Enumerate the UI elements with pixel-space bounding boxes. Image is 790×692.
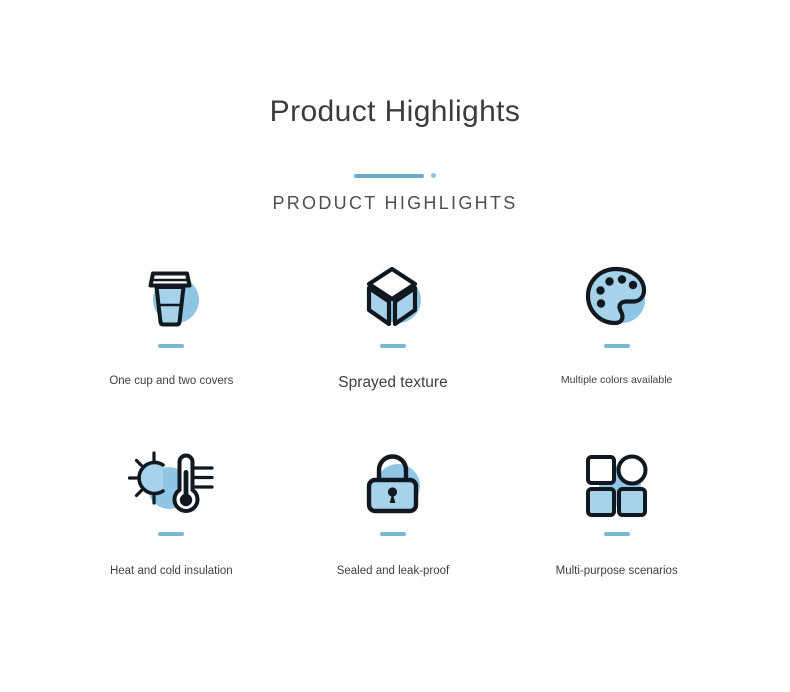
feature-label: Sealed and leak-proof (337, 563, 450, 579)
feature-rule (604, 532, 630, 536)
feature-item-heat-and-cold-insulation[interactable]: Heat and cold insulation (58, 446, 285, 624)
feature-rule (380, 532, 406, 536)
page-header: Product Highlights (0, 92, 790, 132)
feature-label: Multiple colors available (561, 372, 672, 388)
feature-label: Sprayed texture (338, 375, 447, 391)
feature-item-sprayed-texture[interactable]: Sprayed texture (280, 258, 507, 436)
feature-rule (158, 532, 184, 536)
page-title: Product Highlights (0, 92, 790, 132)
feature-label: Heat and cold insulation (110, 563, 233, 579)
paint-palette-icon (580, 258, 654, 336)
thermometer-sun-icon (123, 446, 219, 524)
feature-rule (158, 344, 184, 348)
divider (0, 173, 790, 178)
product-highlights-page: Product Highlights PRODUCT HIGHLIGHTS (0, 0, 790, 692)
grid-shapes-icon (580, 446, 654, 524)
divider-dot-icon (431, 173, 436, 178)
cube-box-icon (356, 258, 430, 336)
feature-item-one-cup-two-covers[interactable]: One cup and two covers (58, 258, 285, 436)
page-subtitle: PRODUCT HIGHLIGHTS (0, 193, 790, 214)
feature-item-sealed-and-leak-proof[interactable]: Sealed and leak-proof (280, 446, 507, 624)
coffee-cup-icon (134, 258, 208, 336)
feature-rule (380, 344, 406, 348)
feature-rule (604, 344, 630, 348)
divider-line-icon (354, 174, 424, 178)
feature-item-multiple-colors-available[interactable]: Multiple colors available (503, 258, 730, 436)
feature-label: Multi-purpose scenarios (556, 563, 678, 579)
feature-item-multi-purpose-scenarios[interactable]: Multi-purpose scenarios (503, 446, 730, 624)
padlock-icon (356, 446, 430, 524)
feature-grid: One cup and two covers Sprayed texture (55, 258, 735, 614)
feature-label: One cup and two covers (109, 373, 233, 389)
